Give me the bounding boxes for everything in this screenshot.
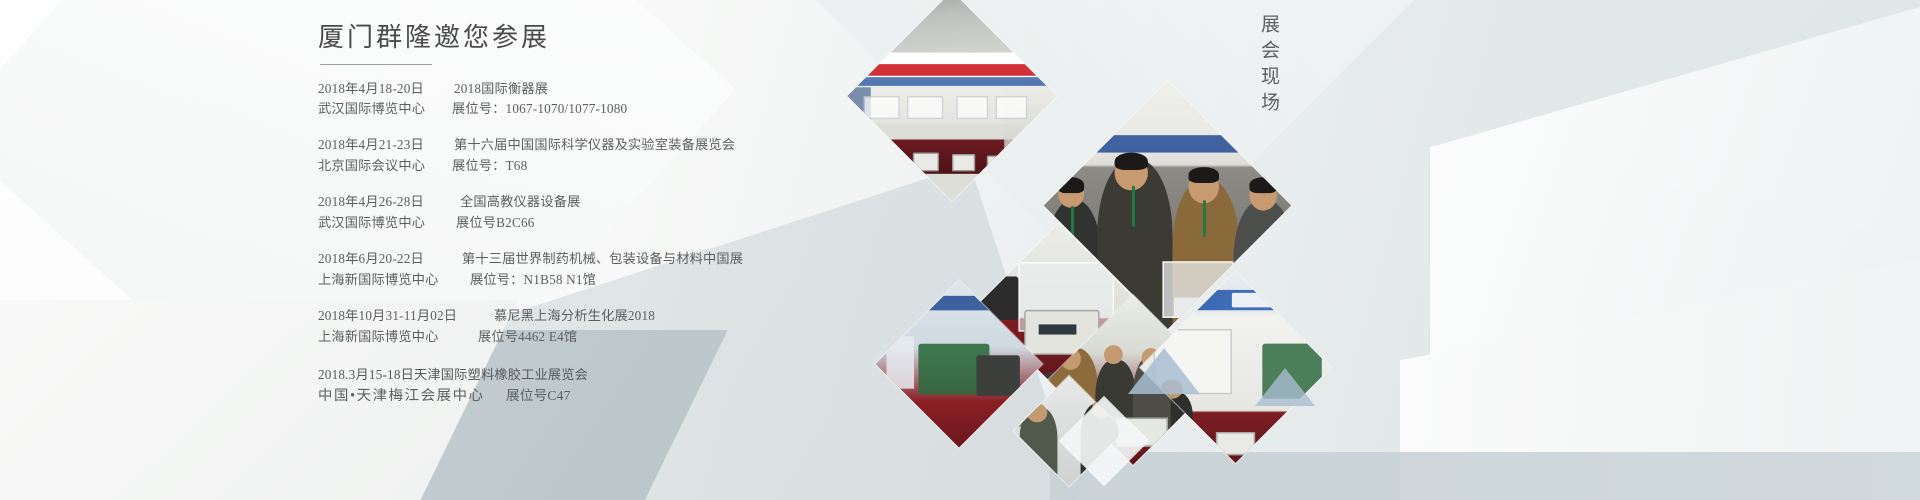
entry-booth: 展位号C47 [506, 385, 571, 406]
entry-venue: 上海新国际博览中心 [318, 270, 452, 290]
background-facet [1430, 0, 1920, 447]
photo-booth-banner [847, 0, 1056, 201]
photo-collage [870, 0, 1290, 500]
entry-venue: 武汉国际博览中心 [318, 213, 436, 233]
entry-name: 第十三届世界制药机械、包装设备与材料中国展 [462, 249, 743, 269]
entry-name: 慕尼黑上海分析生化展2018 [494, 306, 655, 326]
entry-venue: 上海新国际博览中心 [318, 327, 452, 347]
entry-venue: 中国•天津梅江会展中心 [318, 385, 506, 407]
entry-date: 2018年4月26-28日 [318, 192, 440, 212]
entry-name: 第十六届中国国际科学仪器及实验室装备展览会 [454, 135, 735, 155]
entry-booth: 展位号B2C66 [456, 213, 535, 233]
schedule-entry: 2018年10月31-11月02日 慕尼黑上海分析生化展2018 上海新国际博览… [318, 306, 958, 347]
background-facet [1400, 240, 1920, 500]
entry-date: 2018年4月21-23日 [318, 135, 436, 155]
schedule-entry: 2018.3月15-18日天津国际塑料橡胶工业展览会 中国•天津梅江会展中心 展… [318, 365, 958, 408]
schedule-entry: 2018年4月26-28日 全国高教仪器设备展 武汉国际博览中心 展位号B2C6… [318, 192, 958, 233]
schedule-entry: 2018年6月20-22日 第十三届世界制药机械、包装设备与材料中国展 上海新国… [318, 249, 958, 290]
entry-booth: 展位号：T68 [452, 156, 527, 176]
banner-canvas: 厦门群隆邀您参展 2018年4月18-20日 2018国际衡器展 武汉国际博览中… [0, 0, 1920, 500]
photo-content [847, 0, 1056, 201]
entry-date: 2018年4月18-20日 [318, 79, 436, 99]
entry-booth: 展位号：1067-1070/1077-1080 [452, 99, 627, 119]
vertical-caption: 展会现场 [1258, 14, 1278, 118]
entry-date: 2018.3月15-18日天津国际塑料橡胶工业展览会 [318, 365, 588, 385]
page-title: 厦门群隆邀您参展 [318, 22, 958, 55]
entry-venue: 武汉国际博览中心 [318, 99, 436, 119]
entry-date: 2018年10月31-11月02日 [318, 306, 472, 326]
background-facet [1511, 0, 1920, 260]
entry-date: 2018年6月20-22日 [318, 249, 440, 269]
entry-name: 2018国际衡器展 [454, 79, 548, 99]
entry-booth: 展位号：N1B58 N1馆 [470, 270, 596, 290]
title-underline [320, 64, 432, 65]
entry-venue: 北京国际会议中心 [318, 156, 430, 176]
schedule-entry: 2018年4月21-23日 第十六届中国国际科学仪器及实验室装备展览会 北京国际… [318, 135, 958, 176]
entry-name: 全国高教仪器设备展 [460, 192, 581, 212]
entry-booth: 展位号4462 E4馆 [478, 327, 577, 347]
banner-red-stripe [853, 64, 1050, 76]
